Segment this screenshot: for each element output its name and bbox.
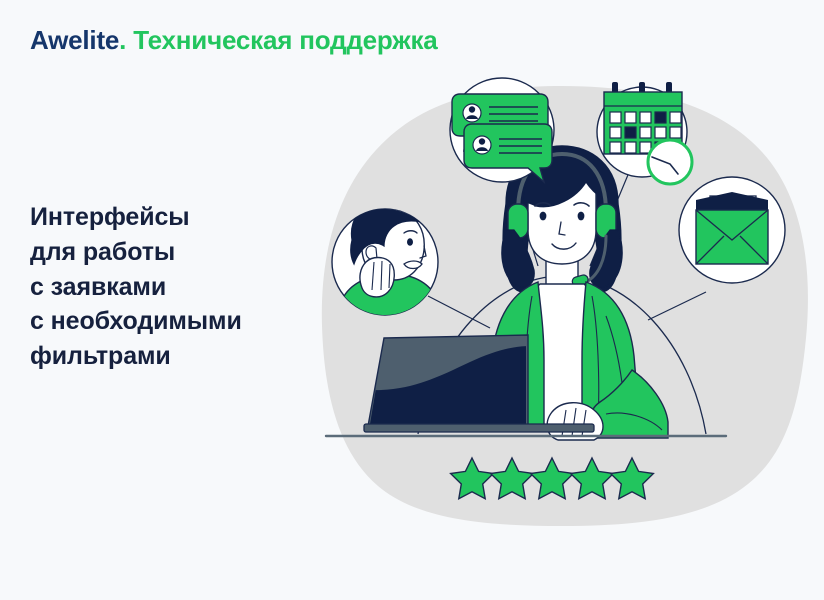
headline-line-5: фильтрами [30,339,330,374]
headline-line-3: с заявками [30,270,330,305]
agent-eye-left [540,212,547,221]
support-banner: Awelite. Техническая поддержка Интерфейс… [0,0,824,600]
headline-line-2: для работы [30,235,330,270]
envelope-body [696,210,768,264]
brand-separator: . [119,25,126,55]
caller-mouth [404,261,422,269]
clock-face [648,140,692,184]
brand-tagline: Техническая поддержка [133,25,437,55]
support-agent-illustration [300,70,824,530]
envelope-icon[interactable] [679,177,785,283]
brand-name: Awelite [30,25,119,55]
chat-bubbles-icon[interactable] [450,78,554,182]
headline-line-4: с необходимыми [30,304,330,339]
agent-eye-right [578,212,585,221]
headline-line-1: Интерфейсы [30,200,330,235]
brand-header: Awelite. Техническая поддержка [30,26,438,55]
page-title: Интерфейсы для работы с заявками с необх… [30,200,330,374]
laptop-base [364,424,594,432]
